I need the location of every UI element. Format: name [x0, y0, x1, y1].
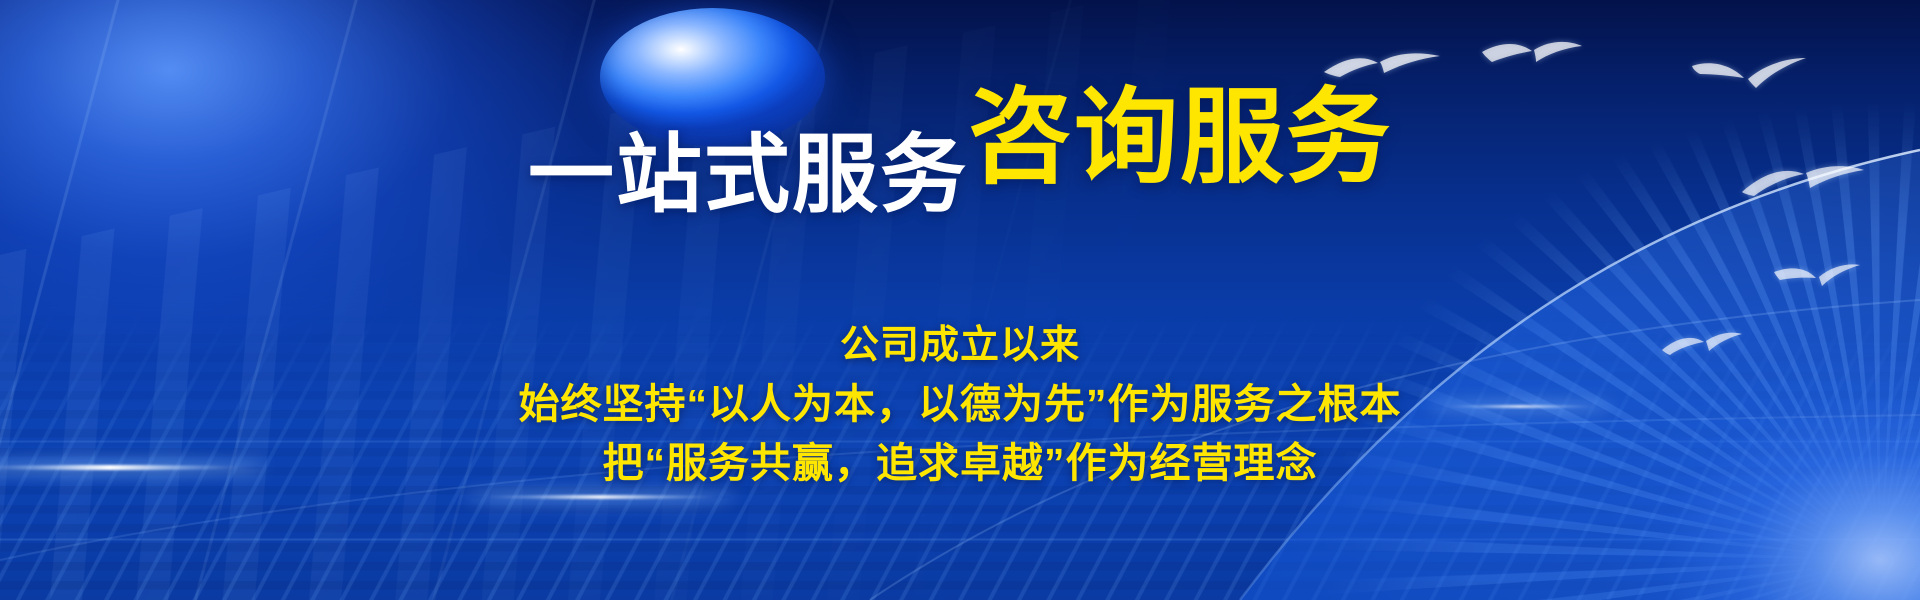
body-line-2: 始终坚持“以人为本，以德为先”作为服务之根本 — [0, 375, 1920, 434]
body-line-3: 把“服务共赢，追求卓越”作为经营理念 — [0, 434, 1920, 493]
promotional-banner: 一站式服务 咨询服务 公司成立以来 始终坚持“以人为本，以德为先”作为服务之根本… — [0, 0, 1920, 600]
seagull-icon — [1772, 262, 1862, 292]
seagull-icon — [1480, 38, 1584, 72]
light-streak-center — [470, 495, 730, 499]
body-copy: 公司成立以来 始终坚持“以人为本，以德为先”作为服务之根本 把“服务共赢，追求卓… — [0, 318, 1920, 493]
headline-primary: 一站式服务 — [528, 132, 968, 218]
seagull-icon — [1322, 46, 1442, 84]
body-line-1: 公司成立以来 — [0, 318, 1920, 375]
headline: 一站式服务 咨询服务 — [0, 86, 1920, 190]
headline-accent: 咨询服务 — [968, 86, 1392, 190]
